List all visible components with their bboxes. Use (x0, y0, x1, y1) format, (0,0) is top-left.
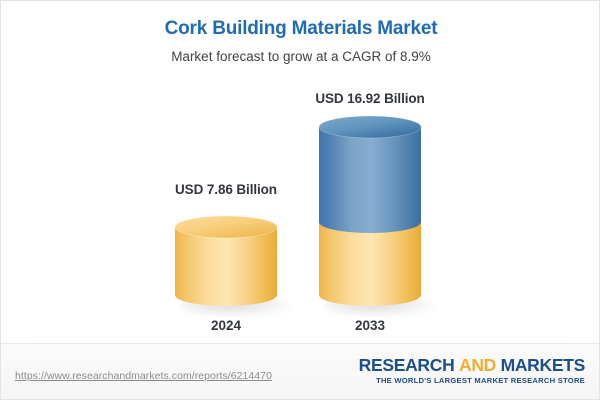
bar-value-label-2024: USD 7.86 Billion (146, 182, 306, 197)
chart-header: Cork Building Materials Market Market fo… (1, 17, 600, 66)
chart-plot-area: USD 7.86 Billion (1, 91, 600, 341)
bar-group-2024: USD 7.86 Billion (146, 91, 306, 341)
bar-cylinder-2033[interactable] (319, 116, 421, 306)
chart-subtitle: Market forecast to grow at a CAGR of 8.9… (1, 48, 600, 66)
source-url-link[interactable]: https://www.researchandmarkets.com/repor… (15, 370, 272, 382)
chart-footer: https://www.researchandmarkets.com/repor… (1, 343, 599, 399)
bar-category-label-2033: 2033 (290, 318, 450, 333)
brand-word-markets: MARKETS (501, 355, 585, 375)
bar-group-2033: USD 16.92 Billion (290, 91, 450, 341)
cylinder-2024-graphic (175, 216, 277, 306)
brand-wordmark: RESEARCH AND MARKETS (359, 355, 585, 375)
bar-category-label-2024: 2024 (146, 318, 306, 333)
cylinder-2033-graphic (319, 116, 421, 306)
brand-word-and: AND (459, 355, 496, 375)
chart-title: Cork Building Materials Market (1, 17, 600, 41)
brand-tagline: THE WORLD'S LARGEST MARKET RESEARCH STOR… (359, 376, 585, 386)
bar-value-label-2033: USD 16.92 Billion (290, 91, 450, 106)
brand-logo[interactable]: RESEARCH AND MARKETS THE WORLD'S LARGEST… (359, 355, 585, 386)
infographic-canvas: Cork Building Materials Market Market fo… (0, 0, 600, 400)
bar-cylinder-2024[interactable] (175, 216, 277, 306)
brand-word-research: RESEARCH (359, 355, 455, 375)
